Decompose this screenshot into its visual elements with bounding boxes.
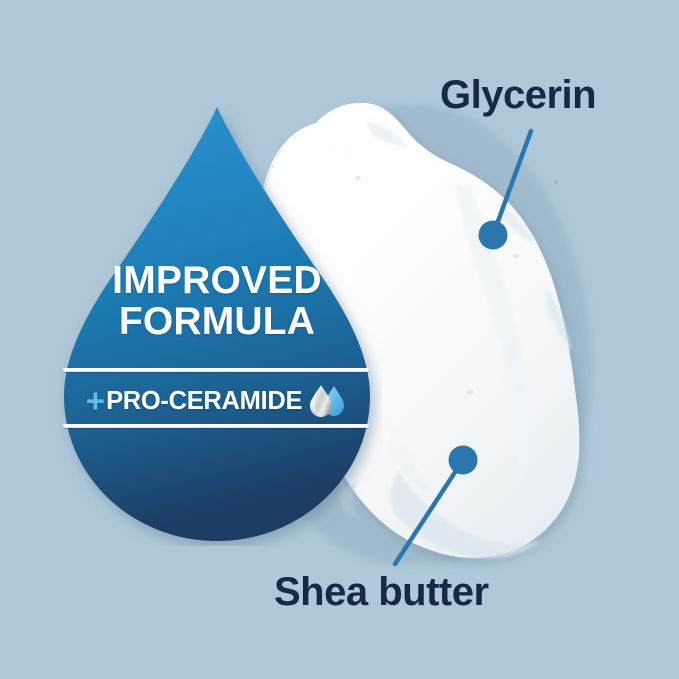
callout-line-glycerin: [493, 131, 531, 235]
callout-dot-glycerin[interactable]: [479, 221, 508, 250]
callout-line-shea: [395, 460, 463, 564]
callout-markers: [0, 0, 679, 679]
callout-dot-shea[interactable]: [449, 446, 478, 475]
callout-glycerin-marker[interactable]: [479, 131, 532, 250]
product-graphic-canvas: IMPROVED FORMULA + PRO-CERAMIDE: [0, 0, 679, 679]
callout-shea-marker[interactable]: [395, 446, 478, 565]
